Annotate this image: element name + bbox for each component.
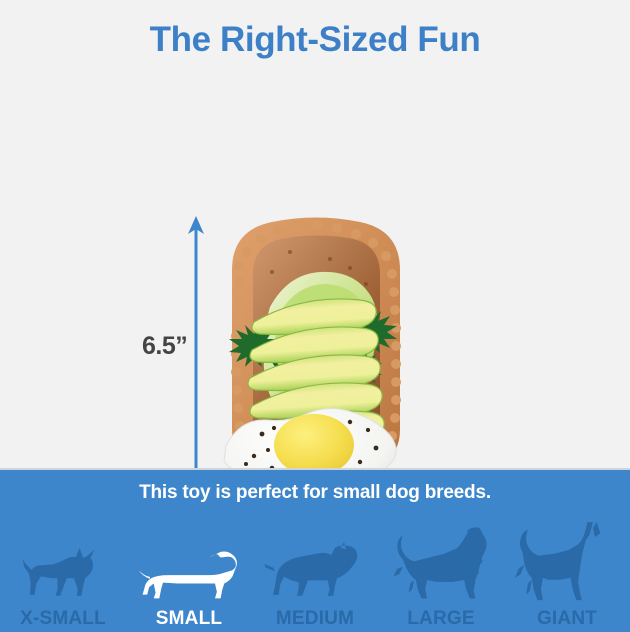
size-option-small[interactable]: SMALL — [126, 514, 252, 632]
size-option-large[interactable]: LARGE — [378, 514, 504, 632]
size-option-medium[interactable]: MEDIUM — [252, 514, 378, 632]
size-label-medium: MEDIUM — [276, 606, 354, 632]
size-label-small: SMALL — [156, 606, 222, 632]
size-option-giant[interactable]: GIANT — [504, 514, 630, 632]
banner-headline: This toy is perfect for small dog breeds… — [0, 482, 630, 504]
size-label-x-small: X-SMALL — [20, 606, 106, 632]
dog-retriever-icon — [382, 520, 500, 606]
dog-bull-terrier-icon — [256, 520, 374, 606]
size-label-large: LARGE — [407, 606, 475, 632]
dog-great-dane-icon — [508, 520, 626, 606]
size-guide-row: X-SMALL SMALL MEDIUM — [0, 512, 630, 632]
page-title: The Right-Sized Fun — [0, 18, 630, 62]
dog-dachshund-icon — [130, 520, 248, 606]
dog-chihuahua-icon — [4, 520, 122, 606]
height-dimension-arrow — [188, 216, 204, 492]
size-label-giant: GIANT — [537, 606, 597, 632]
size-guide-banner: This toy is perfect for small dog breeds… — [0, 468, 630, 632]
infographic-root: The Right-Sized Fun — [0, 0, 630, 630]
size-option-x-small[interactable]: X-SMALL — [0, 514, 126, 632]
product-stage: 6.5” 5.5” — [0, 100, 630, 460]
height-dimension-label: 6.5” — [142, 332, 187, 361]
product-image — [210, 212, 422, 497]
